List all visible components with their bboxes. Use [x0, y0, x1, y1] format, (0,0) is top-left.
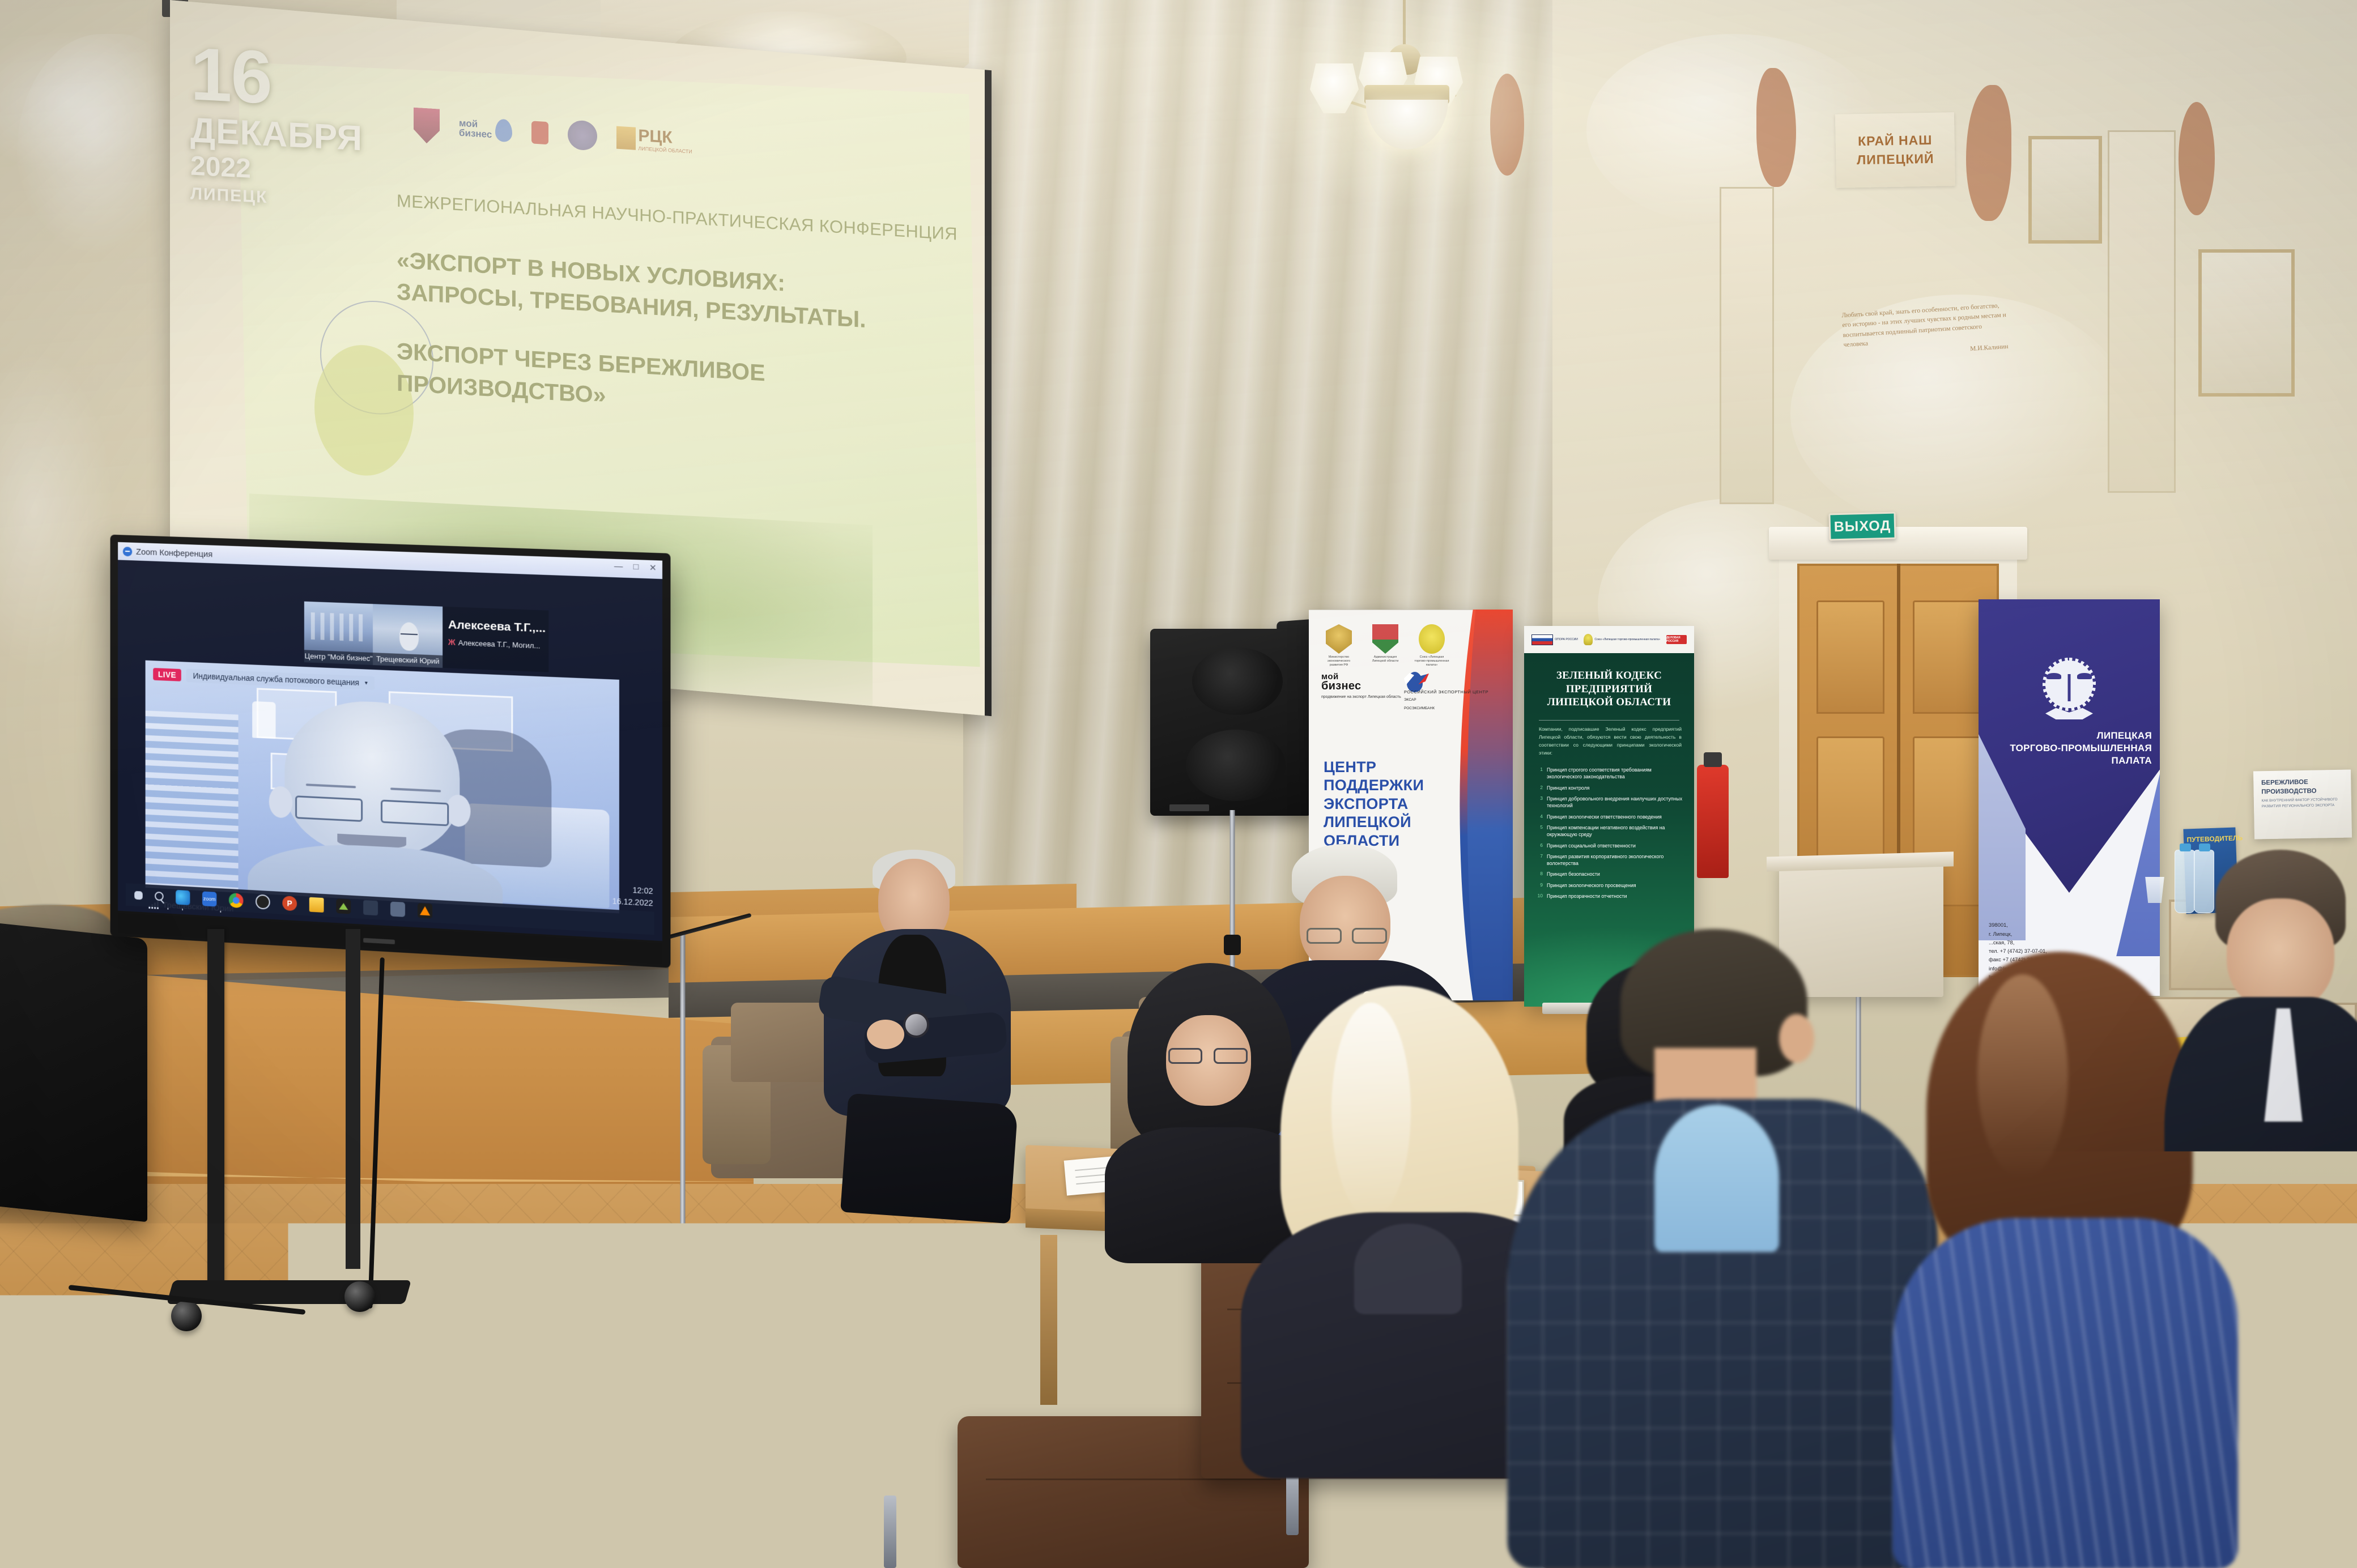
person-moderator-dark-suit: [810, 844, 1048, 1218]
obs-icon[interactable]: [256, 894, 270, 910]
zoom-thumbnail-center-moy-biznes[interactable]: Центр "Мой бизнес": [304, 602, 373, 665]
rec-flag-icon: [1404, 673, 1429, 687]
slide-logo-rck: РЦК ЛИПЕЦКОЙ ОБЛАСТИ: [616, 117, 692, 163]
door-panel: [1816, 600, 1884, 714]
krai-line-1: КРАЙ НАШ: [1858, 133, 1933, 149]
slide-city: ЛИПЕЦК: [190, 185, 355, 212]
vlc-icon[interactable]: [418, 903, 432, 918]
slide-year: 2022: [190, 151, 355, 189]
conference-hall-photo: КРАЙ НАШ ЛИПЕЦКИЙ Любить свой край, знат…: [0, 0, 2357, 1568]
search-icon[interactable]: [155, 892, 164, 901]
banner-rec-logo: РОССИЙСКИЙ ЭКСПОРТНЫЙ ЦЕНТР ЭКСАР РОСЭКС…: [1404, 673, 1488, 711]
folder-icon[interactable]: [309, 897, 324, 913]
zoom-icon[interactable]: zoom: [202, 891, 216, 906]
system-clock: 12:02 16.12.2022: [612, 883, 653, 909]
person-man-checkered-blazer: [1484, 929, 1938, 1568]
chair-leg: [737, 1495, 749, 1568]
chair-leg: [884, 1495, 896, 1568]
wall-panel-decor: [1720, 187, 1774, 504]
live-stream-service-label[interactable]: Индивидуальная служба потокового вещания…: [186, 668, 375, 690]
edge-icon[interactable]: [176, 890, 190, 905]
green-banner-principles: 1Принцип строгого соответствия требовани…: [1537, 766, 1686, 904]
principle-item: 8Принцип безопасности: [1537, 871, 1686, 877]
poster-lean-subtitle: КАК ВНУТРЕННИЙ ФАКТОР УСТОЙЧИВОГО РАЗВИТ…: [2262, 797, 2352, 809]
principle-text: Принцип добровольного внедрения наилучши…: [1547, 795, 1686, 809]
poster-lean-title: БЕРЕЖЛИВОЕ ПРОИЗВОДСТВО: [2261, 778, 2351, 797]
mural-accent: [2179, 102, 2215, 215]
windows-start-icon[interactable]: [134, 890, 143, 900]
moy-biznes-l3: продвижение на экспорт Липецкая область: [1321, 694, 1401, 700]
box-icon[interactable]: [390, 901, 405, 917]
tv-stand-caster: [171, 1301, 202, 1331]
zoom-live-stream-bar: LIVE Индивидуальная служба потокового ве…: [153, 667, 375, 690]
slide-text-block: МЕЖРЕГИОНАЛЬНАЯ НАУЧНО-ПРАКТИЧЕСКАЯ КОНФ…: [397, 190, 890, 429]
tv-stand-caster: [344, 1281, 375, 1312]
zoom-participant-name-big: Алексеева Т.Г.,...: [448, 618, 543, 636]
tpp-wing-icon: [2047, 673, 2061, 679]
crest-tpp: Союз «Липецкая торгово-промышленная пала…: [1414, 624, 1449, 667]
crest-lipetsk-region: Администрация Липецкой области: [1368, 624, 1403, 663]
rec-sub-1: ЭКСАР: [1404, 697, 1488, 703]
zoom-app-icon: [123, 547, 132, 556]
kalinin-wall-quote: Любить свой край, знать его особенности,…: [1841, 301, 2011, 407]
powerpoint-icon[interactable]: P: [282, 896, 297, 911]
triangle-app-icon[interactable]: [336, 898, 351, 914]
banner-export-title-l2: ПОДДЕРЖКИ: [1324, 776, 1424, 794]
clock-date: 16.12.2022: [612, 895, 653, 909]
logo-opora-rossii: ОПОРА РОССИИ: [1531, 634, 1578, 645]
chandelier: [1297, 0, 1524, 159]
banner-crest-row: Министерство экономического развития РФ …: [1321, 624, 1449, 667]
principle-text: Принцип контроля: [1547, 785, 1589, 791]
principle-item: 7Принцип развития корпоративного экологи…: [1537, 853, 1686, 867]
principle-item: 1Принцип строгого соответствия требовани…: [1537, 766, 1686, 781]
logo-delovaya-rossiya: ДЕЛОВАЯ РОССИЯ: [1666, 635, 1687, 644]
principle-item: 9Принцип экологического просвещения: [1537, 882, 1686, 889]
wall-framed-plaque: [2028, 136, 2102, 244]
person-man-far-right: [2164, 850, 2357, 1360]
video-speaker-head: [284, 698, 460, 859]
chevron-down-icon[interactable]: ▾: [365, 680, 368, 686]
table-leg: [1040, 1235, 1057, 1405]
person-ear: [1779, 1014, 1814, 1063]
tv-stand-pole: [207, 929, 224, 1303]
banner-export-title: ЦЕНТР ПОДДЕРЖКИ ЭКСПОРТА ЛИПЕЦКОЙ ОБЛАСТ…: [1324, 758, 1424, 850]
live-stream-text: Индивидуальная служба потокового вещания: [193, 671, 359, 687]
grand-piano: [0, 919, 147, 1222]
eyeglasses-icon: [1307, 928, 1387, 944]
green-title-l1: ЗЕЛЕНЫЙ КОДЕКС: [1524, 669, 1694, 683]
tpp-postcode: 398001,: [1989, 921, 2048, 929]
person-hair-highlight: [1331, 1003, 1411, 1218]
chandelier-shade: [1310, 63, 1359, 113]
tpp-banner-name: ЛИПЕЦКАЯ ТОРГОВО-ПРОМЫШЛЕННАЯ ПАЛАТА: [1996, 730, 2152, 766]
zoom-participant-name-panel[interactable]: Алексеева Т.Г.,... Ж Алексеева Т.Г., Мог…: [443, 607, 548, 672]
moy-biznes-l2: бизнес: [1321, 680, 1401, 693]
video-speaker-ear: [446, 794, 471, 827]
zoom-thumbnail-label: Трещевский Юрий: [373, 653, 443, 668]
green-banner-divider: [1539, 720, 1679, 721]
tv-stand-pole: [346, 929, 360, 1269]
banner-export-title-l1: ЦЕНТР: [1324, 758, 1424, 776]
slide-day: 16: [190, 39, 355, 117]
tv-screen: Zoom Конференция — □ ✕ Центр "Мой бизнес…: [118, 542, 662, 941]
crest-ministry-caption: Министерство экономического развития РФ: [1321, 655, 1356, 667]
door-panel: [1913, 600, 1981, 714]
russian-flag-icon: [1531, 634, 1553, 645]
banner-export-title-l4: ЛИПЕЦКОЙ: [1324, 813, 1424, 831]
chandelier-chain: [1403, 0, 1406, 49]
slide-logo-moybiznes-l2: бизнес: [459, 128, 492, 140]
green-banner-intro: Компании, подписавшие Зеленый кодекс пре…: [1539, 726, 1682, 757]
slide-logo-tpp-tree: [568, 114, 597, 156]
green-banner-title: ЗЕЛЕНЫЙ КОДЕКС ПРЕДПРИЯТИЙ ЛИПЕЦКОЙ ОБЛА…: [1524, 669, 1694, 709]
zoom-participant-name-small: Алексеева Т.Г., Могил...: [458, 638, 541, 650]
principle-item: 6Принцип социальной ответственности: [1537, 842, 1686, 849]
tv-bezel: Zoom Конференция — □ ✕ Центр "Мой бизнес…: [110, 535, 671, 968]
tpp-street: ...ская, 78,: [1989, 938, 2048, 947]
live-badge: LIVE: [153, 668, 181, 681]
maximize-icon[interactable]: □: [633, 562, 639, 573]
principle-item: 2Принцип контроля: [1537, 785, 1686, 791]
tv-stand-caster: [615, 1250, 646, 1280]
eyeglasses-icon: [1168, 1048, 1248, 1064]
tpp-name-l3: ПАЛАТА: [1996, 755, 2152, 767]
zoom-participant-strip[interactable]: Центр "Мой бизнес" Трещевский Юрий Алекс…: [304, 602, 548, 672]
logo-lipetsk-tpp: Союз «Липецкая торгово-промышленная пала…: [1584, 634, 1660, 645]
zoom-thumbnail-treshchevskiy[interactable]: Трещевский Юрий: [373, 604, 443, 668]
tpp-name-l2: ТОРГОВО-ПРОМЫШЛЕННАЯ: [1996, 742, 2152, 755]
green-title-l3: ЛИПЕЦКОЙ ОБЛАСТИ: [1524, 696, 1694, 709]
crest-tpp-caption: Союз «Липецкая торгово-промышленная пала…: [1414, 655, 1449, 667]
principle-text: Принцип развития корпоративного экологич…: [1547, 853, 1686, 867]
person-head: [1300, 876, 1390, 972]
minimize-icon[interactable]: —: [614, 561, 623, 572]
slide-month: ДЕКАБРЯ: [190, 112, 355, 157]
person-face: [2227, 898, 2334, 1012]
crest-ministry: Министерство экономического развития РФ: [1321, 624, 1356, 667]
principle-text: Принцип экологически ответственного пове…: [1547, 813, 1662, 820]
video-remote-speaker: [242, 696, 508, 913]
person-legs: [840, 1093, 1018, 1224]
principle-item: 4Принцип экологически ответственного пов…: [1537, 813, 1686, 820]
person-hand: [867, 1020, 904, 1049]
principle-text: Принцип социальной ответственности: [1547, 842, 1636, 849]
tpp-label: Союз «Липецкая торгово-промышленная пала…: [1594, 638, 1660, 641]
close-icon[interactable]: ✕: [649, 563, 657, 573]
tpp-tree-icon: [1584, 634, 1593, 645]
person-torso: [2164, 997, 2357, 1360]
principle-text: Принцип экологического просвещения: [1547, 882, 1636, 889]
magazine-title: ПУТЕВОДИТЕЛЬ: [2186, 834, 2243, 843]
disk-icon[interactable]: [363, 900, 378, 915]
slide-logo-rck-label: РЦК: [638, 126, 692, 149]
presentation-tv: Zoom Конференция — □ ✕ Центр "Мой бизнес…: [105, 544, 666, 952]
zoom-participant-avatar-initial: Ж: [448, 637, 456, 647]
delovaya-rossiya-label: ДЕЛОВАЯ РОССИЯ: [1666, 635, 1687, 644]
person-hair-highlight: [1977, 974, 2068, 1178]
krai-nash-lipetskiy-sign: КРАЙ НАШ ЛИПЕЦКИЙ: [1835, 112, 1955, 188]
banner-export-title-l3: ЭКСПОРТА: [1324, 795, 1424, 813]
krai-line-2: ЛИПЕЦКИЙ: [1857, 151, 1934, 168]
poster-lean-production: БЕРЕЖЛИВОЕ ПРОИЗВОДСТВО КАК ВНУТРЕННИЙ Ф…: [2253, 770, 2352, 840]
tpp-wing-icon: [2077, 673, 2092, 679]
chrome-icon[interactable]: [229, 893, 244, 908]
slide-date-block: 16 ДЕКАБРЯ 2022 ЛИПЕЦК: [190, 39, 355, 212]
slide-logo-rec: [531, 112, 548, 154]
zoom-active-speaker-video: LIVE Индивидуальная служба потокового ве…: [146, 661, 619, 914]
banner-lipetsk-chamber: ЛИПЕЦКАЯ ТОРГОВО-ПРОМЫШЛЕННАЯ ПАЛАТА 398…: [1979, 599, 2160, 996]
principle-text: Принцип строгого соответствия требования…: [1547, 766, 1686, 781]
door-lintel: [1769, 527, 2027, 560]
zoom-meeting-body: Центр "Мой бизнес" Трещевский Юрий Алекс…: [118, 560, 662, 941]
wall-framed-plaque: [2198, 249, 2295, 397]
exit-sign: ВЫХОД: [1828, 512, 1896, 541]
loudspeaker-front: [1150, 629, 1312, 816]
zoom-window-title: Zoom Конференция: [136, 547, 212, 559]
fire-extinguisher: [1697, 765, 1729, 878]
principle-item: 5Принцип компенсации негативного воздейс…: [1537, 824, 1686, 838]
tpp-emblem: [2041, 661, 2098, 724]
opora-rossii-label: ОПОРА РОССИИ: [1555, 638, 1578, 641]
slide-logo-lipetsk-crest: [414, 105, 440, 147]
window-controls[interactable]: — □ ✕: [614, 561, 657, 573]
crest-region-caption: Администрация Липецкой области: [1368, 655, 1403, 663]
tpp-city: г. Липецк,: [1989, 930, 2048, 938]
zoom-thumbnail-label: Центр "Мой бизнес": [304, 650, 373, 665]
green-banner-logo-row: ОПОРА РОССИИ Союз «Липецкая торгово-пром…: [1524, 626, 1694, 653]
principle-item: 3Принцип добровольного внедрения наилучш…: [1537, 795, 1686, 809]
rec-title: РОССИЙСКИЙ ЭКСПОРТНЫЙ ЦЕНТР: [1404, 689, 1488, 695]
person-collar: [1354, 1224, 1462, 1314]
exit-sign-label: ВЫХОД: [1833, 517, 1891, 535]
tpp-caduceus-icon: [2068, 674, 2071, 701]
audience-chair[interactable]: [657, 1275, 952, 1512]
green-title-l2: ПРЕДПРИЯТИЙ: [1524, 683, 1694, 696]
person-shirt: [1654, 1105, 1779, 1252]
chandelier-bowl: [1365, 100, 1448, 150]
video-bg-cabinet: [146, 710, 239, 893]
tpp-name-l1: ЛИПЕЦКАЯ: [1996, 730, 2152, 742]
principle-text: Принцип компенсации негативного воздейст…: [1547, 824, 1686, 838]
wall-panel-decor: [2108, 130, 2176, 493]
wristwatch: [903, 1012, 929, 1038]
rec-sub-2: РОСЭКСИМБАНК: [1404, 706, 1488, 711]
video-speaker-ear: [269, 786, 293, 819]
slide-logo-moy-biznes: мой бизнес: [459, 108, 512, 152]
principle-text: Принцип безопасности: [1547, 871, 1600, 877]
